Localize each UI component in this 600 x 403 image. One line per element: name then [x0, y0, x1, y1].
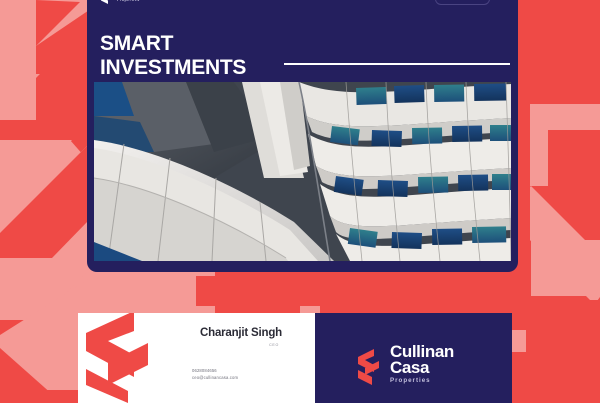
- business-card-email: ceo@cullinancasa.com: [192, 374, 238, 381]
- business-card-contact: 0628084656 ceo@cullinancasa.com: [192, 367, 238, 382]
- business-card-role: CEO: [269, 343, 279, 347]
- logo-card-wordmark: Cullinan Casa Properties: [390, 343, 454, 385]
- building-photo-illustration: [94, 82, 511, 261]
- logo-card-line2: Casa: [390, 359, 454, 376]
- business-card-phone: 0628084656: [192, 367, 238, 374]
- hero-pill-button[interactable]: [435, 0, 490, 5]
- business-card-name: Charanjit Singh: [200, 327, 282, 339]
- hero-title: SMART INVESTMENTS: [100, 32, 246, 79]
- logo-card-back: Cullinan Casa Properties: [315, 313, 512, 403]
- hero-logo-wordmark: Cullinan Casa Properties: [117, 0, 151, 4]
- hero-building-photo: [94, 82, 511, 261]
- logo-card-lockup: Cullinan Casa Properties: [355, 343, 454, 385]
- hero-logo-line3: Properties: [117, 0, 151, 3]
- hero-title-line2: INVESTMENTS: [100, 56, 246, 80]
- hero-logo: Cullinan Casa Properties: [99, 0, 151, 4]
- presentation-mockup-canvas: Cullinan Casa Properties SMART INVESTMEN…: [0, 0, 600, 403]
- cullinan-casa-logo-mark-icon: [355, 349, 383, 385]
- hero-panel: Cullinan Casa Properties SMART INVESTMEN…: [87, 0, 518, 272]
- business-card-logo-mark-icon: [78, 313, 168, 403]
- cullinan-casa-logo-mark-icon: [99, 0, 113, 4]
- hero-title-rule: [284, 63, 510, 65]
- hero-title-line1: SMART: [100, 32, 246, 56]
- logo-card-line3: Properties: [390, 378, 454, 384]
- business-card-front: Charanjit Singh CEO 0628084656 ceo@culli…: [78, 313, 315, 403]
